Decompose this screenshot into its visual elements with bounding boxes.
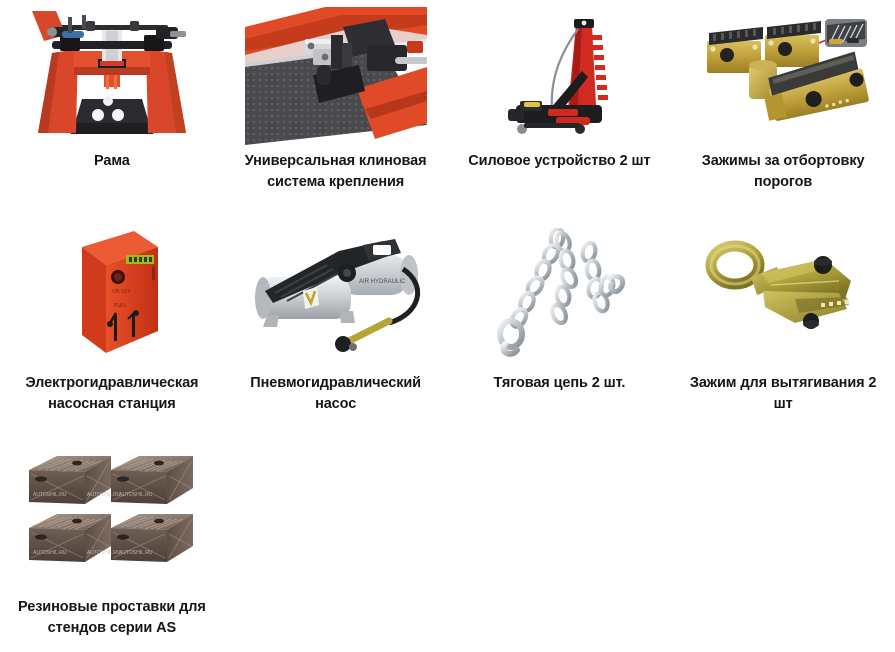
product-image-power-tower[interactable] (448, 0, 672, 150)
product-image-electrohydraulic-pump-station[interactable]: ON OFF PULL (0, 218, 224, 368)
svg-text:AIR HYDRAULIC: AIR HYDRAULIC (359, 279, 406, 285)
product-caption: Резиновые проставки для стендов серии AS (9, 597, 214, 639)
product-card-power-tower[interactable]: Силовое устройство 2 шт (448, 0, 672, 218)
product-caption: Тяговая цепь 2 шт. (457, 373, 662, 394)
product-card-universal-wedge-clamping-system[interactable]: Универсальная клиновая система крепления (224, 0, 448, 218)
svg-text:ON OFF: ON OFF (112, 289, 131, 295)
product-card-pneumohydraulic-pump[interactable]: AIR HYDRAULIC Пневмогидравлический насос (224, 218, 448, 438)
product-caption: Универсальная клиновая система крепления (233, 151, 438, 193)
product-caption: Электрогидравлическая насосная станция (9, 373, 214, 415)
svg-text:PULL: PULL (114, 303, 127, 309)
svg-text:AUTOSHIL.RU: AUTOSHIL.RU (119, 492, 153, 498)
svg-text:AUTOSHIL.RU: AUTOSHIL.RU (87, 550, 121, 556)
product-caption: Силовое устройство 2 шт (457, 151, 662, 172)
svg-text:AUTOSHIL.RU: AUTOSHIL.RU (33, 550, 67, 556)
product-card-sill-flange-clamps[interactable]: Зажимы за отбортовку порогов (671, 0, 895, 218)
product-card-frame[interactable]: Рама (0, 0, 224, 218)
product-caption: Пневмогидравлический насос (233, 373, 438, 415)
product-image-universal-wedge-clamping-system[interactable] (224, 0, 448, 150)
product-card-rubber-spacers-as[interactable]: AUTOSHIL.RU AUTOSHIL.RU AUTOSHIL.RU AUTO… (0, 438, 224, 652)
product-caption: Рама (9, 151, 214, 172)
product-image-sill-flange-clamps[interactable] (671, 0, 895, 150)
product-caption: Зажим для вытягивания 2 шт (681, 373, 886, 415)
product-gallery-grid: Рама (0, 0, 895, 652)
svg-text:AUTOSHIL.RU: AUTOSHIL.RU (119, 550, 153, 556)
product-card-electrohydraulic-pump-station[interactable]: ON OFF PULL Электрогидравлическая насосн… (0, 218, 224, 438)
product-image-rubber-spacers-as[interactable]: AUTOSHIL.RU AUTOSHIL.RU AUTOSHIL.RU AUTO… (0, 438, 224, 588)
product-caption: Зажимы за отбортовку порогов (681, 151, 886, 193)
product-image-pneumohydraulic-pump[interactable]: AIR HYDRAULIC (224, 218, 448, 368)
product-image-pulling-clamp[interactable] (671, 218, 895, 368)
product-card-pulling-clamp[interactable]: Зажим для вытягивания 2 шт (671, 218, 895, 438)
svg-text:AUTOSHIL.RU: AUTOSHIL.RU (87, 492, 121, 498)
product-card-pulling-chain[interactable]: Тяговая цепь 2 шт. (448, 218, 672, 438)
product-image-frame[interactable] (0, 0, 224, 150)
svg-text:AUTOSHIL.RU: AUTOSHIL.RU (33, 492, 67, 498)
product-image-pulling-chain[interactable] (448, 218, 672, 368)
